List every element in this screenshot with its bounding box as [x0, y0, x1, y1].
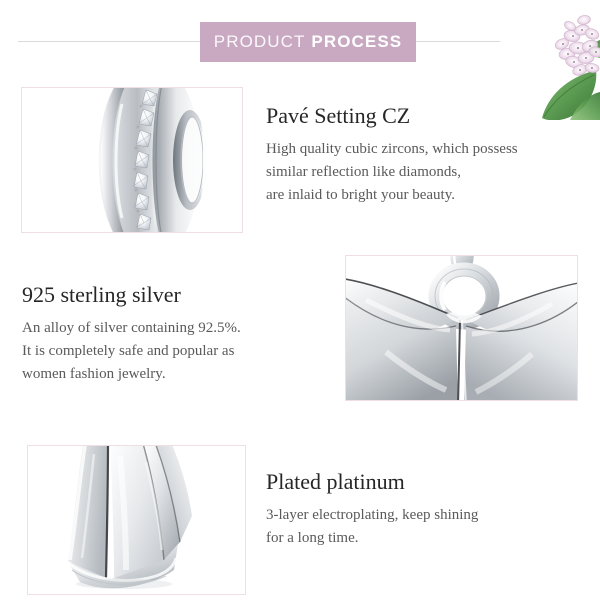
section-body-line: women fashion jewelry.: [22, 363, 322, 386]
section-body-line: An alloy of silver containing 92.5%.: [22, 317, 322, 340]
header-rule-right: [416, 41, 500, 42]
section-body-line: are inlaid to bright your beauty.: [266, 184, 586, 207]
section-925-sterling-silver: 925 sterling silver An alloy of silver c…: [22, 283, 322, 386]
section-plated-platinum: Plated platinum 3-layer electroplating, …: [266, 470, 566, 550]
section-heading: Plated platinum: [266, 470, 566, 495]
section-body-line: High quality cubic zircons, which posses…: [266, 138, 586, 161]
platinum-plated-charm-photo: [27, 445, 246, 595]
section-body-line: It is completely safe and popular as: [22, 340, 322, 363]
pave-cz-spacer-ring-photo: [21, 87, 243, 233]
section-body-line: similar reflection like diamonds,: [266, 161, 586, 184]
page-title-bold-word: PROCESS: [311, 32, 402, 51]
section-heading: 925 sterling silver: [22, 283, 322, 308]
section-body-line: for a long time.: [266, 527, 566, 550]
page-header: PRODUCT PROCESS: [0, 22, 600, 62]
section-pave-setting-cz: Pavé Setting CZ High quality cubic zirco…: [266, 104, 586, 207]
page-title-light-word: PRODUCT: [214, 32, 306, 51]
product-process-infographic: PRODUCT PROCESS: [0, 0, 600, 600]
section-body-line: 3-layer electroplating, keep shining: [266, 504, 566, 527]
section-heading: Pavé Setting CZ: [266, 104, 586, 129]
silver-charm-with-jump-ring-photo: [345, 255, 578, 401]
page-title: PRODUCT PROCESS: [214, 32, 402, 52]
header-rule-left: [18, 41, 200, 42]
page-title-banner: PRODUCT PROCESS: [200, 22, 416, 62]
